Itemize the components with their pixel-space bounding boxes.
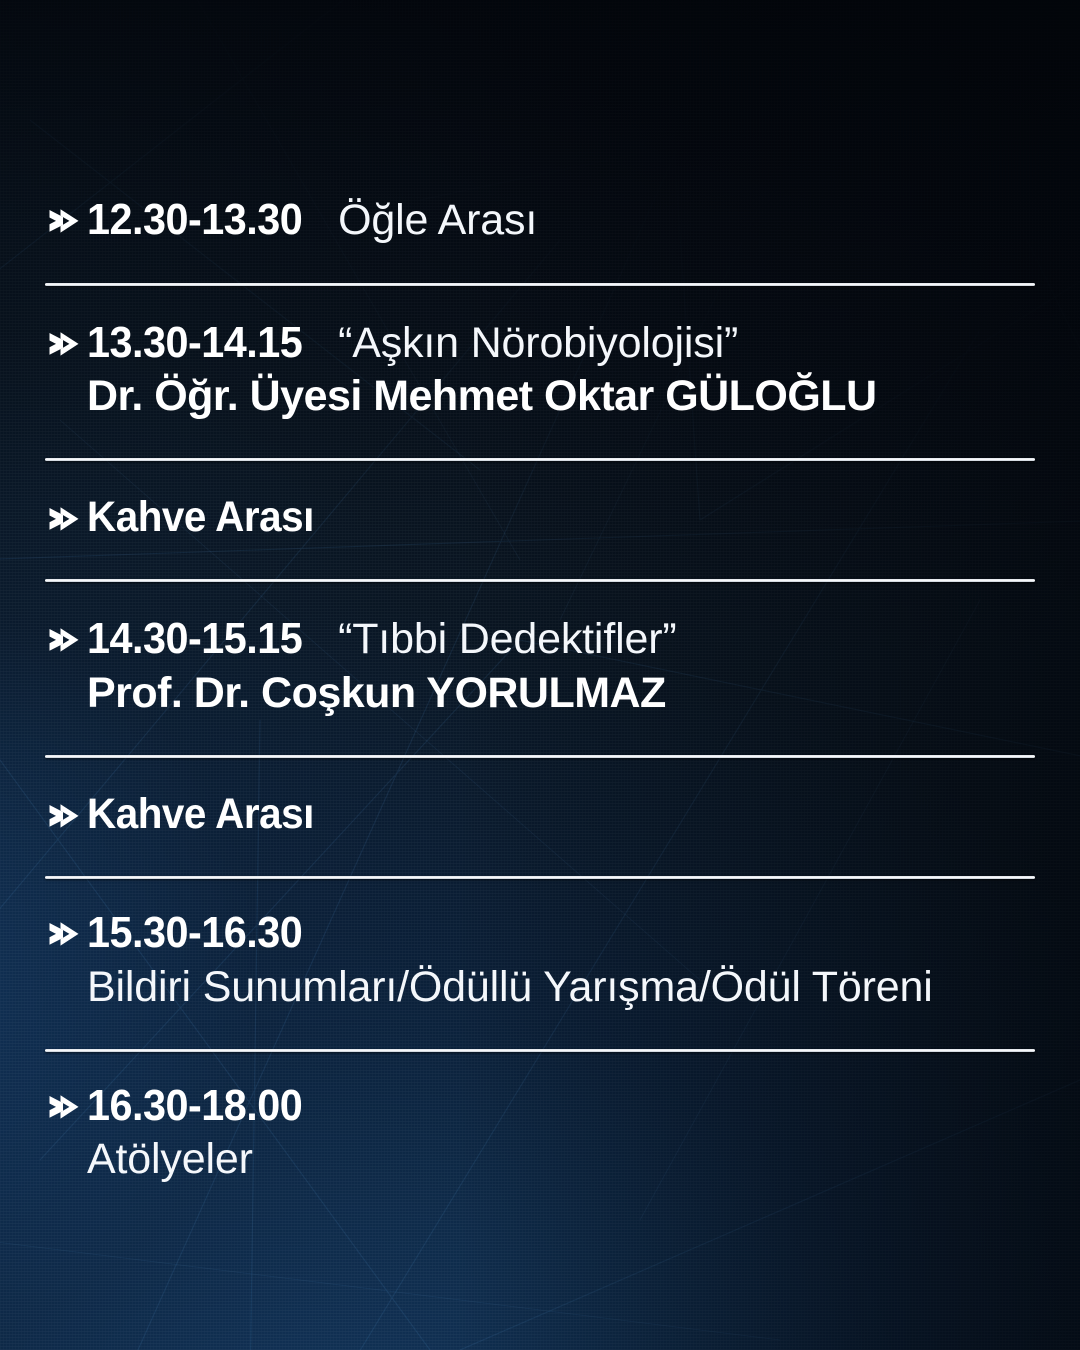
double-chevron-right-icon <box>47 799 87 833</box>
row-speaker: Prof. Dr. Coşkun YORULMAZ <box>87 669 1035 719</box>
row-title: “Aşkın Nörobiyolojisi” <box>338 320 738 366</box>
row-title: Kahve Arası <box>87 791 314 837</box>
schedule-row-talk-2: 14.30-15.15 “Tıbbi Dedektifler” Prof. Dr… <box>45 615 1035 718</box>
row-time: 16.30-18.00 <box>87 1082 302 1130</box>
schedule-poster: 12.30-13.30 Öğle Arası 13 <box>0 0 1080 1350</box>
row-title: Kahve Arası <box>87 494 314 540</box>
row-description: Atölyeler <box>87 1135 1035 1185</box>
double-chevron-right-icon <box>47 1090 87 1124</box>
row-time: 14.30-15.15 <box>87 615 302 663</box>
schedule-row-workshops: 16.30-18.00 Atölyeler <box>45 1082 1035 1185</box>
row-speaker: Dr. Öğr. Üyesi Mehmet Oktar GÜLOĞLU <box>87 372 1035 422</box>
double-chevron-right-icon <box>47 917 87 951</box>
schedule-row-presentations: 15.30-16.30 Bildiri Sunumları/Ödüllü Yar… <box>45 909 1035 1012</box>
row-title: Öğle Arası <box>338 197 537 243</box>
row-time: 13.30-14.15 <box>87 319 302 367</box>
schedule-row-coffee-2: Kahve Arası <box>45 791 1035 837</box>
double-chevron-right-icon <box>47 502 87 536</box>
schedule-row-lunch: 12.30-13.30 Öğle Arası <box>45 196 1035 244</box>
row-time: 15.30-16.30 <box>87 909 302 957</box>
double-chevron-right-icon <box>47 623 87 657</box>
row-time: 12.30-13.30 <box>87 196 302 244</box>
row-title: “Tıbbi Dedektifler” <box>338 616 676 662</box>
double-chevron-right-icon <box>47 204 87 238</box>
schedule-row-talk-1: 13.30-14.15 “Aşkın Nörobiyolojisi” Dr. Ö… <box>45 319 1035 422</box>
row-description: Bildiri Sunumları/Ödüllü Yarışma/Ödül Tö… <box>87 963 1035 1013</box>
double-chevron-right-icon <box>47 327 87 361</box>
schedule-list: 12.30-13.30 Öğle Arası 13 <box>45 196 1035 1185</box>
schedule-row-coffee-1: Kahve Arası <box>45 494 1035 540</box>
